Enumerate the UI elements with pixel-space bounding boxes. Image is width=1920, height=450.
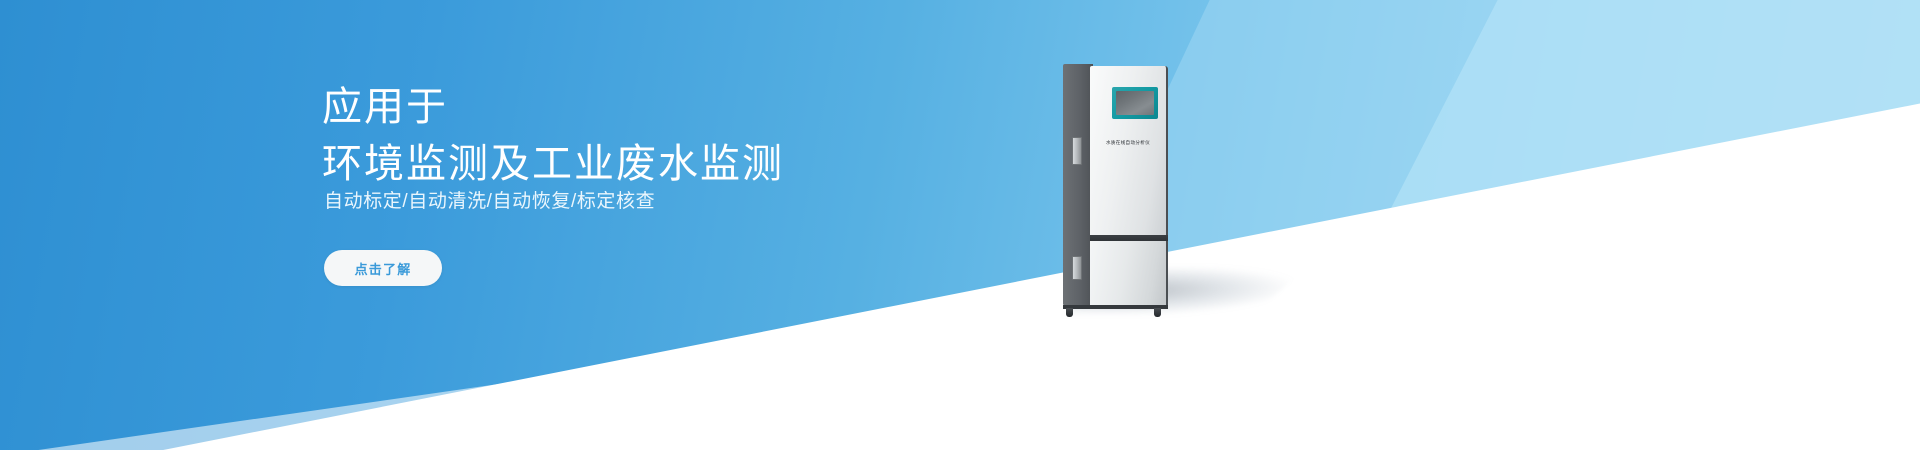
water-quality-analyzer-device: 水质在线自动分析仪 bbox=[1063, 64, 1185, 309]
device-caster-right bbox=[1154, 308, 1161, 317]
device-lower-door bbox=[1090, 241, 1168, 305]
banner-headline: 应用于 环境监测及工业废水监测 bbox=[322, 79, 784, 193]
headline-line-2: 环境监测及工业废水监测 bbox=[322, 136, 784, 193]
hero-banner: 应用于 环境监测及工业废水监测 自动标定/自动清洗/自动恢复/标定核查 点击了解… bbox=[0, 0, 1920, 450]
device-handle-lower bbox=[1072, 256, 1082, 280]
banner-content: 应用于 环境监测及工业废水监测 自动标定/自动清洗/自动恢复/标定核查 点击了解 bbox=[322, 0, 1022, 450]
learn-more-button[interactable]: 点击了解 bbox=[324, 250, 442, 286]
device-base bbox=[1063, 305, 1168, 309]
device-display-screen bbox=[1116, 91, 1154, 115]
device-caster-left bbox=[1066, 308, 1073, 317]
device-handle-upper bbox=[1072, 137, 1082, 165]
banner-subtitle: 自动标定/自动清洗/自动恢复/标定核查 bbox=[324, 186, 655, 213]
headline-line-1: 应用于 bbox=[322, 79, 784, 136]
device-screen-bezel bbox=[1112, 87, 1158, 119]
device-product-label: 水质在线自动分析仪 bbox=[1090, 140, 1166, 146]
